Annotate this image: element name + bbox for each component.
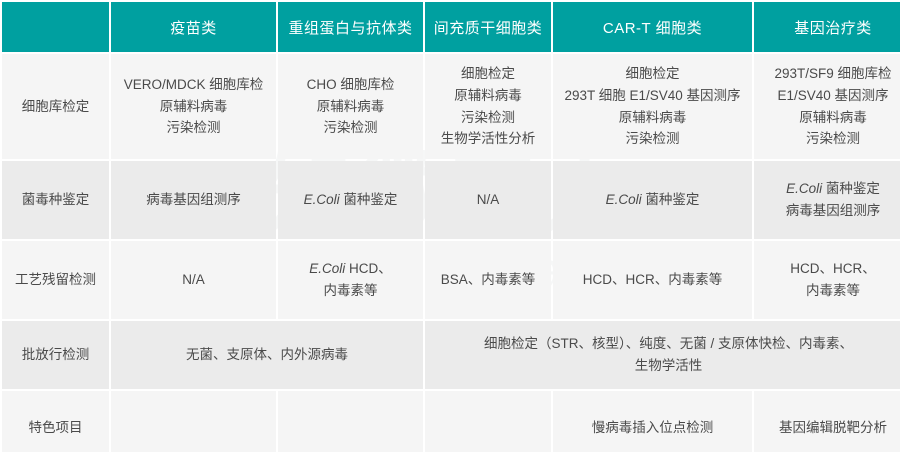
column-header-recombinant-protein-antibody: 重组蛋白与抗体类 xyxy=(278,2,423,52)
table-cell xyxy=(278,391,423,452)
cell-line: 细胞检定 xyxy=(559,63,746,85)
cell-line: 病毒基因组测序 xyxy=(760,200,900,222)
cell-line: 污染检测 xyxy=(431,107,545,129)
table-cell: HCD、HCR、内毒素等 xyxy=(553,241,752,319)
column-header-vaccine: 疫苗类 xyxy=(111,2,276,52)
cell-line: 病毒基因组测序 xyxy=(117,189,270,211)
table-body: 细胞库检定VERO/MDCK 细胞库检原辅料病毒污染检测CHO 细胞库检原辅料病… xyxy=(2,54,900,452)
table-cell: VERO/MDCK 细胞库检原辅料病毒污染检测 xyxy=(111,54,276,159)
cell-line: 细胞检定 xyxy=(431,63,545,85)
table-cell: 慢病毒插入位点检测 xyxy=(553,391,752,452)
cell-line: 无菌、支原体、内外源病毒 xyxy=(117,344,417,366)
cell-line: 原辅料病毒 xyxy=(760,107,900,129)
cell-line: CHO 细胞库检 xyxy=(284,74,417,96)
row-label: 细胞库检定 xyxy=(2,54,109,159)
cell-line: 原辅料病毒 xyxy=(431,85,545,107)
table-cell: 细胞检定原辅料病毒污染检测生物学活性分析 xyxy=(425,54,551,159)
cell-line: VERO/MDCK 细胞库检 xyxy=(117,74,270,96)
cell-line: 293T 细胞 E1/SV40 基因测序 xyxy=(559,85,746,107)
table-row: 工艺残留检测N/AE.Coli HCD、内毒素等BSA、内毒素等HCD、HCR、… xyxy=(2,241,900,319)
table-row: 细胞库检定VERO/MDCK 细胞库检原辅料病毒污染检测CHO 细胞库检原辅料病… xyxy=(2,54,900,159)
row-label: 特色项目 xyxy=(2,391,109,452)
cell-line: 细胞检定（STR、核型）、纯度、无菌 / 支原体快检、内毒素、 xyxy=(431,333,900,355)
table-cell xyxy=(425,391,551,452)
row-label: 菌毒种鉴定 xyxy=(2,161,109,239)
matrix: 疫苗类 重组蛋白与抗体类 间充质干细胞类 CAR-T 细胞类 基因治疗类 细胞库… xyxy=(0,0,900,452)
cell-line: 污染检测 xyxy=(760,128,900,150)
detection-matrix-table: 知微至人 Microread 疫苗类 重组蛋白与抗体类 间充质干细胞类 CAR-… xyxy=(0,0,900,452)
cell-line: 生物学活性 xyxy=(431,355,900,377)
column-header-car-t-cell: CAR-T 细胞类 xyxy=(553,2,752,52)
cell-line: 原辅料病毒 xyxy=(117,96,270,118)
table-cell: 病毒基因组测序 xyxy=(111,161,276,239)
cell-line: 慢病毒插入位点检测 xyxy=(559,417,746,439)
cell-line: 污染检测 xyxy=(284,117,417,139)
cell-line: E.Coli HCD、 xyxy=(284,258,417,280)
cell-line: E1/SV40 基因测序 xyxy=(760,85,900,107)
cell-line: 原辅料病毒 xyxy=(559,107,746,129)
table-cell xyxy=(111,391,276,452)
header-row: 疫苗类 重组蛋白与抗体类 间充质干细胞类 CAR-T 细胞类 基因治疗类 xyxy=(2,2,900,52)
italic-species-name: E.Coli xyxy=(786,181,822,196)
italic-species-name: E.Coli xyxy=(309,261,345,276)
table-cell: BSA、内毒素等 xyxy=(425,241,551,319)
cell-line: 内毒素等 xyxy=(284,280,417,302)
cell-line: HCD、HCR、内毒素等 xyxy=(559,269,746,291)
row-label: 工艺残留检测 xyxy=(2,241,109,319)
table-cell: 细胞检定（STR、核型）、纯度、无菌 / 支原体快检、内毒素、生物学活性 xyxy=(425,321,900,389)
table-row: 批放行检测无菌、支原体、内外源病毒细胞检定（STR、核型）、纯度、无菌 / 支原… xyxy=(2,321,900,389)
table-cell: E.Coli 菌种鉴定 xyxy=(278,161,423,239)
italic-species-name: E.Coli xyxy=(304,192,340,207)
table-cell: 无菌、支原体、内外源病毒 xyxy=(111,321,423,389)
table-cell: HCD、HCR、内毒素等 xyxy=(754,241,900,319)
cell-line: N/A xyxy=(431,189,545,211)
cell-line: E.Coli 菌种鉴定 xyxy=(760,178,900,200)
cell-line: 内毒素等 xyxy=(760,280,900,302)
cell-line: N/A xyxy=(117,269,270,291)
row-label: 批放行检测 xyxy=(2,321,109,389)
table-cell: N/A xyxy=(425,161,551,239)
table-cell: E.Coli 菌种鉴定病毒基因组测序 xyxy=(754,161,900,239)
cell-line: 基因编辑脱靶分析 xyxy=(760,417,900,439)
cell-line: 生物学活性分析 xyxy=(431,128,545,150)
cell-line: 污染检测 xyxy=(117,117,270,139)
column-header-mesenchymal-stem-cell: 间充质干细胞类 xyxy=(425,2,551,52)
cell-line: 污染检测 xyxy=(559,128,746,150)
cell-line: 原辅料病毒 xyxy=(284,96,417,118)
table-cell: N/A xyxy=(111,241,276,319)
table-cell: CHO 细胞库检原辅料病毒污染检测 xyxy=(278,54,423,159)
table-header: 疫苗类 重组蛋白与抗体类 间充质干细胞类 CAR-T 细胞类 基因治疗类 xyxy=(2,2,900,52)
table-row: 菌毒种鉴定病毒基因组测序E.Coli 菌种鉴定N/AE.Coli 菌种鉴定E.C… xyxy=(2,161,900,239)
table-cell: E.Coli HCD、内毒素等 xyxy=(278,241,423,319)
italic-species-name: E.Coli xyxy=(606,192,642,207)
cell-line: E.Coli 菌种鉴定 xyxy=(284,189,417,211)
table-row: 特色项目慢病毒插入位点检测基因编辑脱靶分析 xyxy=(2,391,900,452)
header-corner-cell xyxy=(2,2,109,52)
cell-line: 293T/SF9 细胞库检 xyxy=(760,63,900,85)
cell-line: E.Coli 菌种鉴定 xyxy=(559,189,746,211)
column-header-gene-therapy: 基因治疗类 xyxy=(754,2,900,52)
table-cell: 基因编辑脱靶分析 xyxy=(754,391,900,452)
table-cell: E.Coli 菌种鉴定 xyxy=(553,161,752,239)
cell-line: HCD、HCR、 xyxy=(760,258,900,280)
cell-line: BSA、内毒素等 xyxy=(431,269,545,291)
table-cell: 细胞检定293T 细胞 E1/SV40 基因测序原辅料病毒污染检测 xyxy=(553,54,752,159)
table-cell: 293T/SF9 细胞库检E1/SV40 基因测序原辅料病毒污染检测 xyxy=(754,54,900,159)
